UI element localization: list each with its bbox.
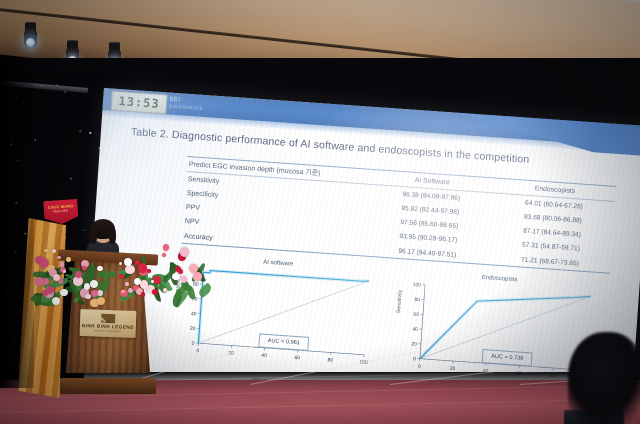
svg-text:0: 0 — [418, 364, 421, 370]
star-light — [70, 178, 72, 180]
flower — [125, 282, 129, 286]
conference-stage-photo: 13:53 SEI CONFERENCE Table 2. Diagnostic… — [0, 0, 640, 424]
flower — [180, 247, 190, 257]
speaker-hair — [91, 219, 115, 239]
flower — [53, 274, 60, 281]
star-light — [89, 132, 91, 134]
flower — [124, 258, 131, 265]
stage-spotlight — [24, 22, 37, 52]
flower — [52, 249, 56, 253]
floor-line — [0, 399, 640, 413]
flower — [57, 256, 60, 259]
flower — [85, 294, 90, 299]
flower — [91, 290, 98, 297]
star-light — [34, 139, 36, 141]
flower — [193, 272, 201, 280]
svg-text:20: 20 — [190, 326, 196, 332]
flower — [66, 257, 70, 261]
results-table: Predict EGC invasion depth (mucosa 기준) A… — [181, 156, 616, 274]
foliage — [187, 285, 196, 300]
flower — [125, 265, 134, 274]
audience-head-foreground — [568, 332, 640, 424]
svg-text:20: 20 — [411, 341, 417, 347]
svg-text:0: 0 — [191, 341, 194, 347]
svg-text:80: 80 — [414, 297, 420, 303]
banner-text: CHUC MUNG Nam Moi — [44, 204, 78, 214]
star-light — [79, 131, 81, 133]
star-light — [64, 91, 66, 93]
flower — [141, 292, 145, 296]
svg-text:100: 100 — [412, 282, 421, 289]
flower — [97, 266, 102, 271]
header-sub-text: CONFERENCE — [169, 104, 204, 111]
flower — [147, 269, 151, 273]
plaque-venue-subtitle: HOTEL & RESORT — [94, 330, 121, 334]
svg-text:40: 40 — [261, 353, 267, 359]
svg-text:40: 40 — [412, 327, 418, 333]
flower — [119, 262, 123, 266]
podium-plaque: NINH BINH LEGEND HOTEL & RESORT — [80, 309, 137, 338]
clock-time: 13:53 — [118, 94, 160, 111]
svg-text:40: 40 — [191, 311, 197, 317]
svg-text:80: 80 — [327, 357, 333, 363]
flower — [162, 253, 166, 257]
svg-text:60: 60 — [294, 355, 300, 361]
flower — [63, 270, 66, 273]
flower-arrangement-right — [118, 244, 198, 300]
podium-base — [60, 378, 156, 394]
flower-arrangement-left — [30, 246, 102, 306]
svg-text:0: 0 — [196, 348, 199, 354]
flower — [119, 274, 124, 279]
banner-line-2: Nam Moi — [53, 208, 68, 213]
flower — [82, 266, 86, 270]
svg-text:0: 0 — [413, 356, 416, 362]
flower — [189, 264, 198, 273]
hotel-logo-icon — [101, 314, 115, 323]
flower — [172, 273, 180, 281]
flower — [60, 262, 65, 267]
flower — [97, 290, 102, 295]
plaque-venue-name: NINH BINH LEGEND — [82, 323, 134, 330]
flower — [152, 289, 158, 295]
header-org-text: SEI — [169, 97, 180, 104]
flower — [60, 289, 68, 297]
flower — [39, 258, 49, 268]
flower — [163, 244, 170, 251]
svg-text:60: 60 — [413, 312, 419, 318]
left-shadow — [0, 58, 34, 388]
flower — [44, 249, 48, 253]
flower — [163, 288, 167, 292]
flower — [52, 297, 61, 306]
